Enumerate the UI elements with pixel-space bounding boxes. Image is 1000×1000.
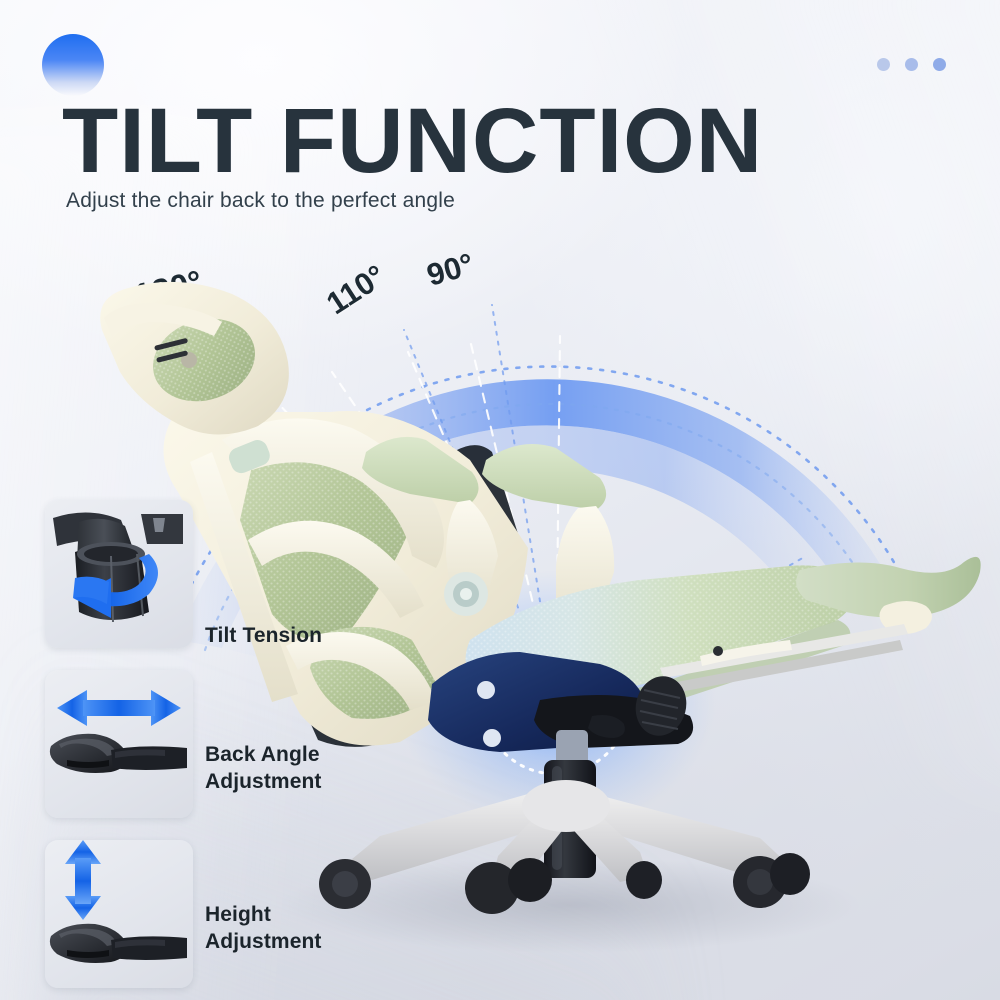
feature-label-height: Height Adjustment xyxy=(205,902,322,956)
paddle-lever-icon xyxy=(45,670,193,818)
paddle-lever-icon xyxy=(45,840,193,988)
feature-card-height[interactable] xyxy=(45,840,193,988)
feature-label-line: Adjustment xyxy=(205,929,322,956)
dot-1-icon xyxy=(877,58,890,71)
mechanism-bolt-1 xyxy=(477,681,495,699)
feature-card-tilt-tension[interactable] xyxy=(45,500,193,648)
feature-label-tilt-tension: Tilt Tension xyxy=(205,623,322,650)
feature-card-back-angle[interactable] xyxy=(45,670,193,818)
feature-label-line: Tilt Tension xyxy=(205,623,322,650)
vertical-double-arrow xyxy=(65,840,101,920)
feature-label-line: Adjustment xyxy=(205,769,322,796)
dot-2-icon xyxy=(905,58,918,71)
feature-label-back-angle: Back Angle Adjustment xyxy=(205,742,322,796)
base-hub xyxy=(522,780,610,832)
footrest-lock-pin xyxy=(713,646,723,656)
page-title: TILT FUNCTION xyxy=(62,98,922,185)
page-subtitle: Adjust the chair back to the perfect ang… xyxy=(66,189,455,213)
accent-circle xyxy=(42,34,104,96)
dot-3-icon xyxy=(933,58,946,71)
caster-3 xyxy=(626,861,662,899)
mechanism-bolt-2 xyxy=(483,729,501,747)
feature-label-line: Height xyxy=(205,902,322,929)
rotation-knob-icon xyxy=(45,500,193,648)
horizontal-double-arrow xyxy=(57,690,181,726)
feature-label-line: Back Angle xyxy=(205,742,322,769)
infographic-canvas: 120° 110° 90° xyxy=(0,0,1000,1000)
decorative-dots xyxy=(877,58,946,71)
